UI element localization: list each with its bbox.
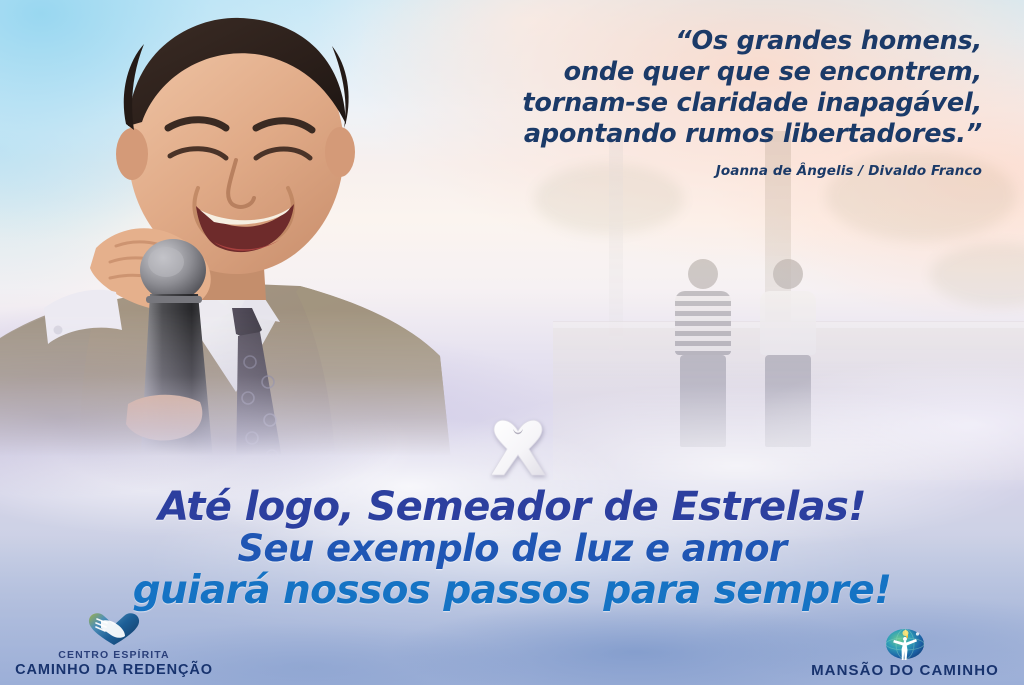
- poster-canvas: “Os grandes homens, onde quer que se enc…: [0, 0, 1024, 685]
- person-head: [688, 259, 718, 289]
- quote-block: “Os grandes homens, onde quer que se enc…: [362, 26, 982, 179]
- quote-line-4: apontando rumos libertadores.”: [362, 119, 982, 150]
- logo-right-line-1: MANSÃO DO CAMINHO: [800, 662, 1010, 679]
- logo-left-line-1: CENTRO ESPÍRITA: [14, 649, 214, 662]
- headline-block: Até logo, Semeador de Estrelas! Seu exem…: [0, 487, 1024, 612]
- headline-line-1: Até logo, Semeador de Estrelas!: [0, 487, 1024, 528]
- headline-line-2: Seu exemplo de luz e amor: [0, 528, 1024, 569]
- globe-figure-flame-icon: [800, 626, 1010, 662]
- foliage-shape: [930, 243, 1024, 307]
- quote-line-3: tornam-se claridade inapagável,: [362, 88, 982, 119]
- background-person-striped-shirt: [675, 259, 731, 447]
- quote-line-1: “Os grandes homens,: [362, 26, 982, 57]
- person-torso: [760, 291, 816, 355]
- quote-attribution: Joanna de Ângelis / Divaldo Franco: [362, 163, 982, 179]
- headline-line-3: guiará nossos passos para sempre!: [0, 569, 1024, 612]
- background-person-white-shirt: [760, 259, 816, 447]
- white-wall: [553, 322, 1024, 361]
- white-ribbon-icon: [487, 411, 549, 483]
- quote-line-2: onde quer que se encontrem,: [362, 57, 982, 88]
- person-legs: [765, 355, 811, 447]
- person-head: [773, 259, 803, 289]
- logo-mansao-do-caminho: MANSÃO DO CAMINHO: [800, 626, 1010, 679]
- heart-hand-icon: [14, 611, 214, 647]
- logo-centro-espirita-caminho-da-redencao: CENTRO ESPÍRITA CAMINHO DA REDENÇÃO: [14, 611, 214, 679]
- ground-plane: [553, 328, 1024, 479]
- person-torso: [675, 291, 731, 355]
- background-photo-two-people: [553, 151, 1024, 480]
- person-legs: [680, 355, 726, 447]
- logo-left-line-2: CAMINHO DA REDENÇÃO: [14, 662, 214, 679]
